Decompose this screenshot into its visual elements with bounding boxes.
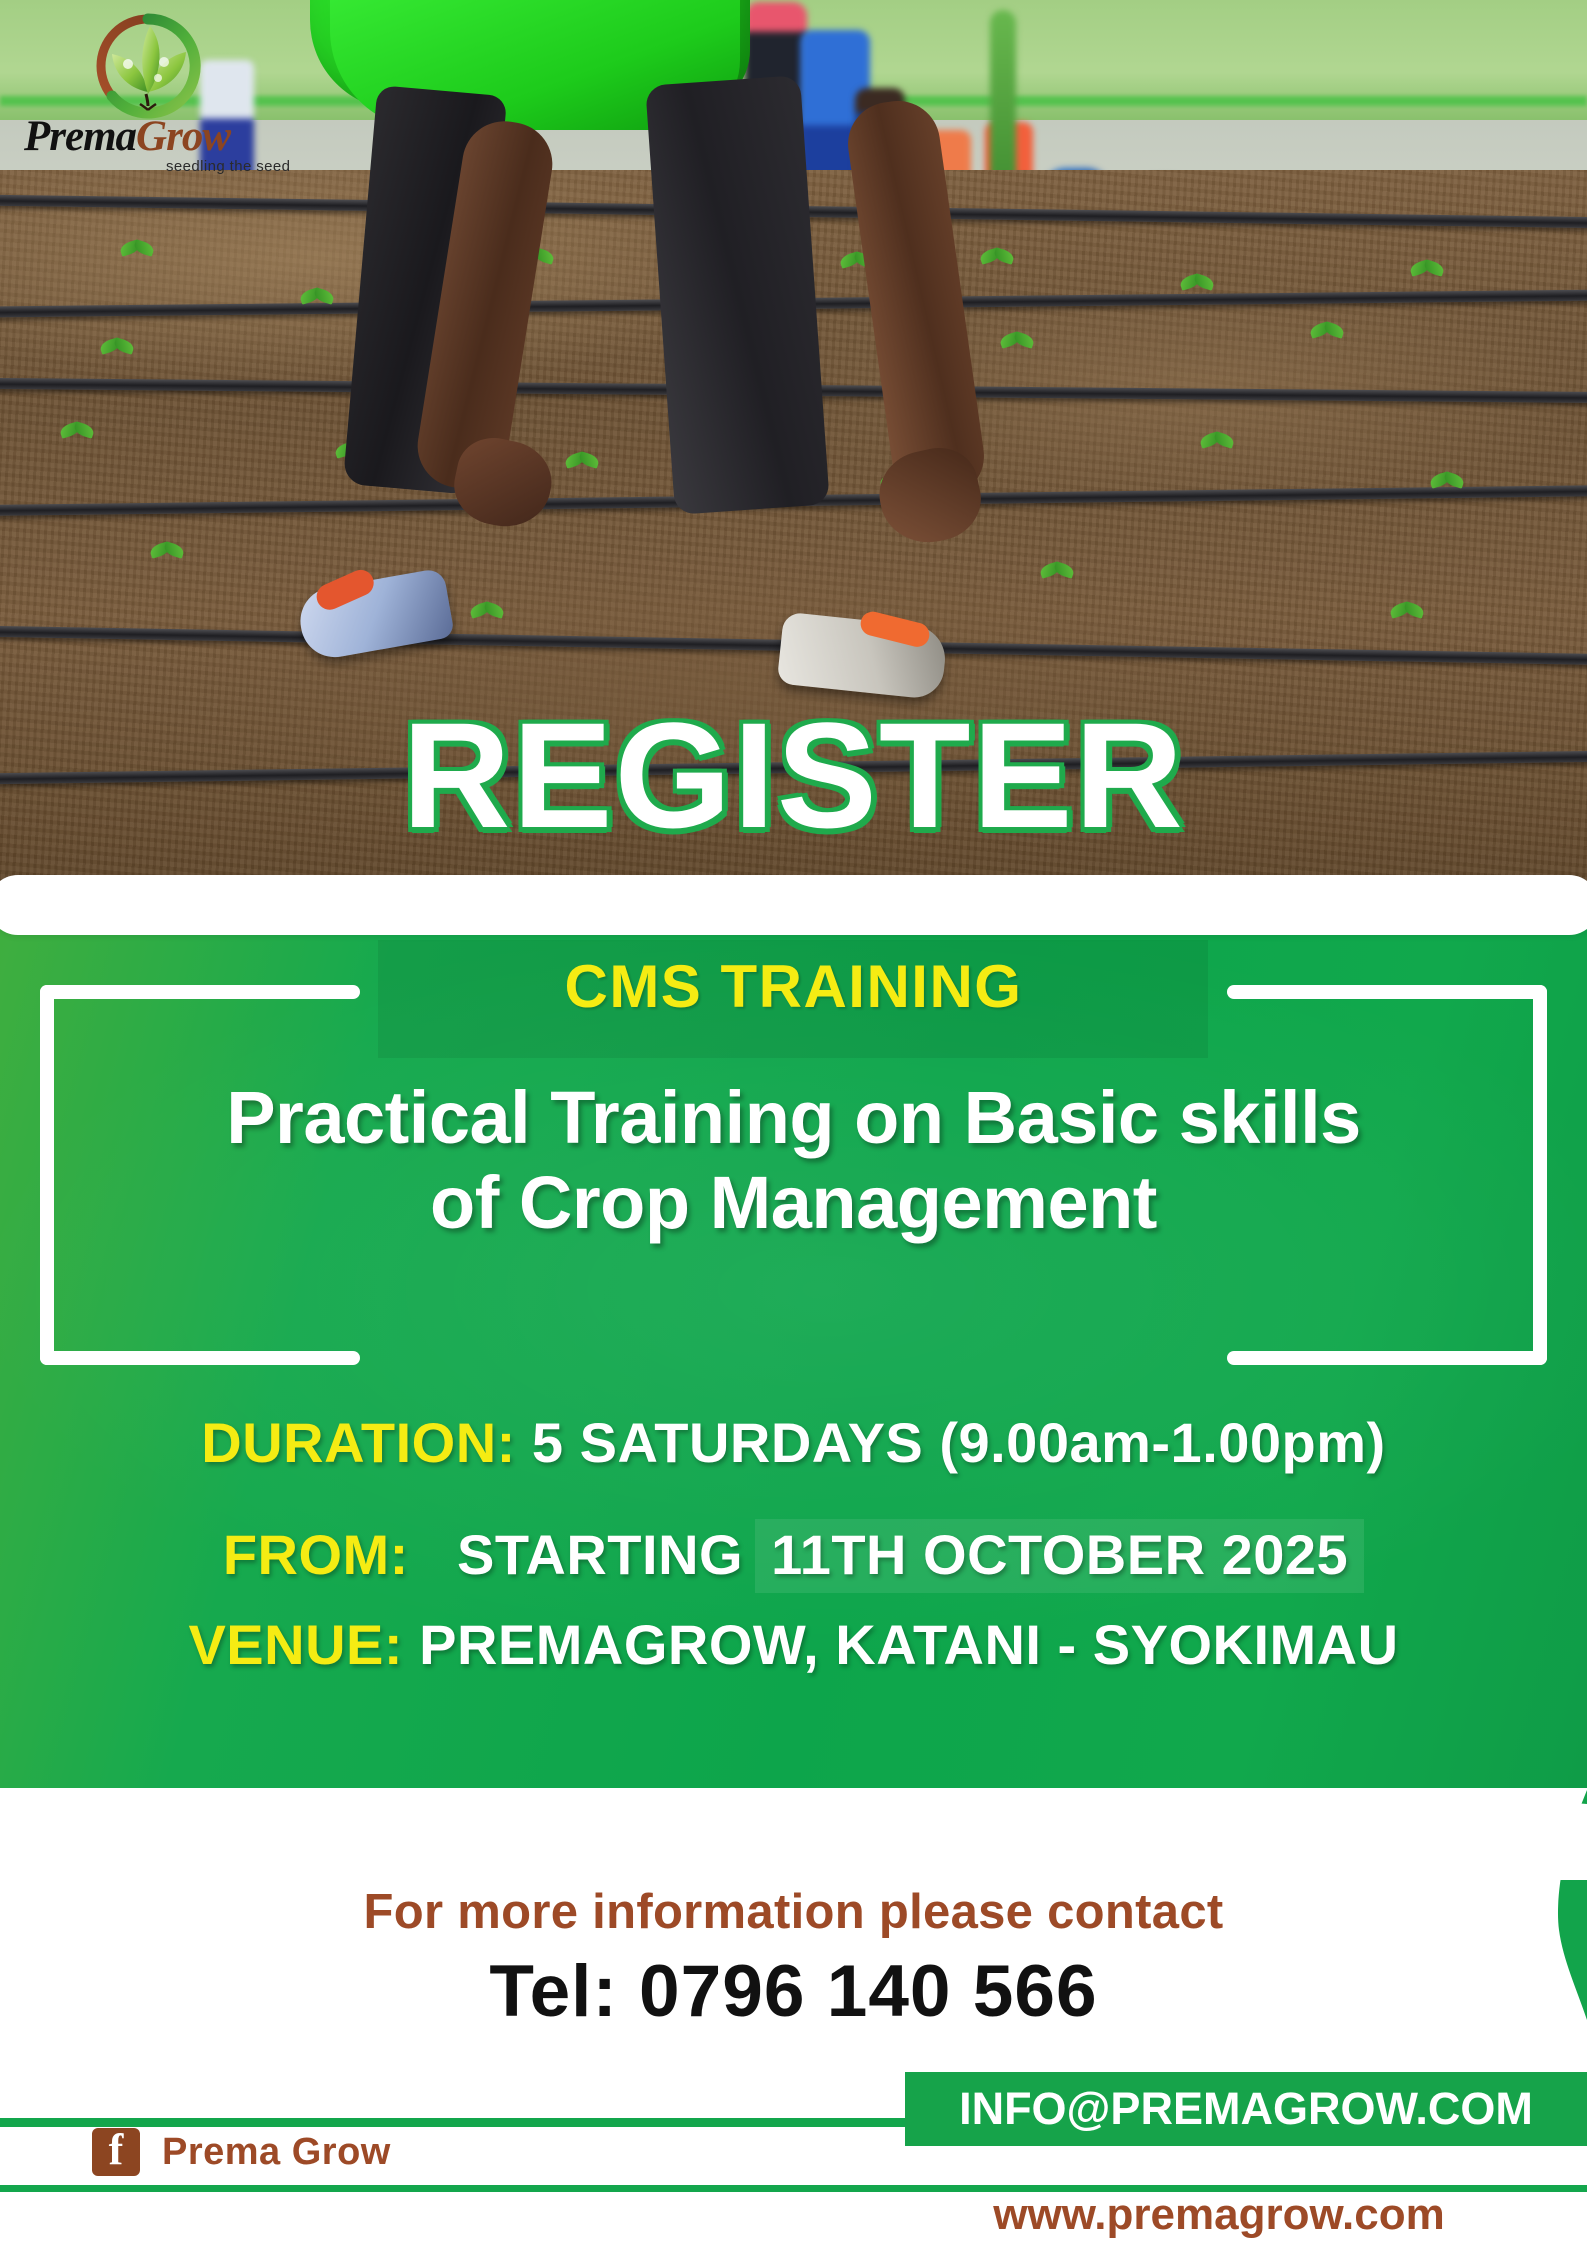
detail-highlight-start-date: 11TH OCTOBER 2025 [755,1519,1364,1593]
contact-website[interactable]: www.premagrow.com [879,2190,1559,2240]
section-divider-band [0,875,1587,935]
brand-wordmark: PremaGrow [24,112,294,161]
facebook-page-name[interactable]: Prema Grow [162,2131,391,2174]
page-title-line1: Practical Training on Basic skills [70,1075,1517,1160]
seedling [120,238,154,260]
kicker-text: CMS TRAINING [0,952,1587,1021]
detail-row-duration: DURATION: 5 SATURDAYS (9.00am-1.00pm) [0,1415,1587,1471]
facebook-icon[interactable] [92,2128,140,2176]
frame-bracket-left [40,985,54,1365]
contact-email[interactable]: INFO@PREMAGROW.COM [959,2083,1533,2135]
page-title-line2: of Crop Management [70,1160,1517,1245]
seedling [1180,272,1214,294]
leaf-sprout-circle-icon [88,8,208,128]
seedling [470,600,504,622]
facebook-link[interactable]: Prema Grow [92,2128,391,2176]
seedling [565,450,599,472]
footer-top-curve [0,1760,1587,1880]
register-heading: REGISTER [402,700,1185,850]
frame-bracket-right [1533,985,1547,1365]
brand-tagline: seedling the seed [166,158,290,175]
detail-label-venue: VENUE: [188,1613,403,1676]
seedling [60,420,94,442]
frame-bracket-bottom-right [1227,1351,1547,1365]
email-badge[interactable]: INFO@PREMAGROW.COM [905,2072,1587,2146]
poster-root: PremaGrow seedling the seed REGISTER CMS… [0,0,1587,2245]
register-heading-wrap: REGISTER [0,700,1587,850]
seedling [1430,470,1464,492]
detail-label-duration: DURATION: [201,1411,516,1474]
seedling [100,336,134,358]
contact-prompt: For more information please contact [0,1884,1587,1940]
brand-name-part1: Prema [24,113,136,160]
seedling [1310,320,1344,342]
frame-bracket-bottom-left [40,1351,360,1365]
detail-row-venue: VENUE: PREMAGROW, KATANI - SYOKIMAU [0,1617,1587,1673]
seedling [980,246,1014,268]
seedling [1040,560,1074,582]
detail-row-from: FROM: STARTING 11TH OCTOBER 2025 [0,1519,1587,1593]
event-details: DURATION: 5 SATURDAYS (9.00am-1.00pm) FR… [0,1415,1587,1673]
brand-name-part2: Grow [136,113,230,160]
contact-telephone: Tel: 0796 140 566 [0,1950,1587,2033]
detail-value-from: STARTING [457,1523,743,1586]
seedling [300,286,334,308]
page-title: Practical Training on Basic skills of Cr… [70,1075,1517,1245]
seedling [150,540,184,562]
detail-label-from: FROM: [223,1523,409,1586]
seedling [1410,258,1444,280]
seedling [1000,330,1034,352]
brand-logo: PremaGrow seedling the seed [18,8,298,188]
seedling [1390,600,1424,622]
detail-value-venue: PREMAGROW, KATANI - SYOKIMAU [419,1613,1398,1676]
farmer-leg-right [645,75,830,515]
detail-value-duration: 5 SATURDAYS (9.00am-1.00pm) [532,1411,1386,1474]
seedling [1200,430,1234,452]
